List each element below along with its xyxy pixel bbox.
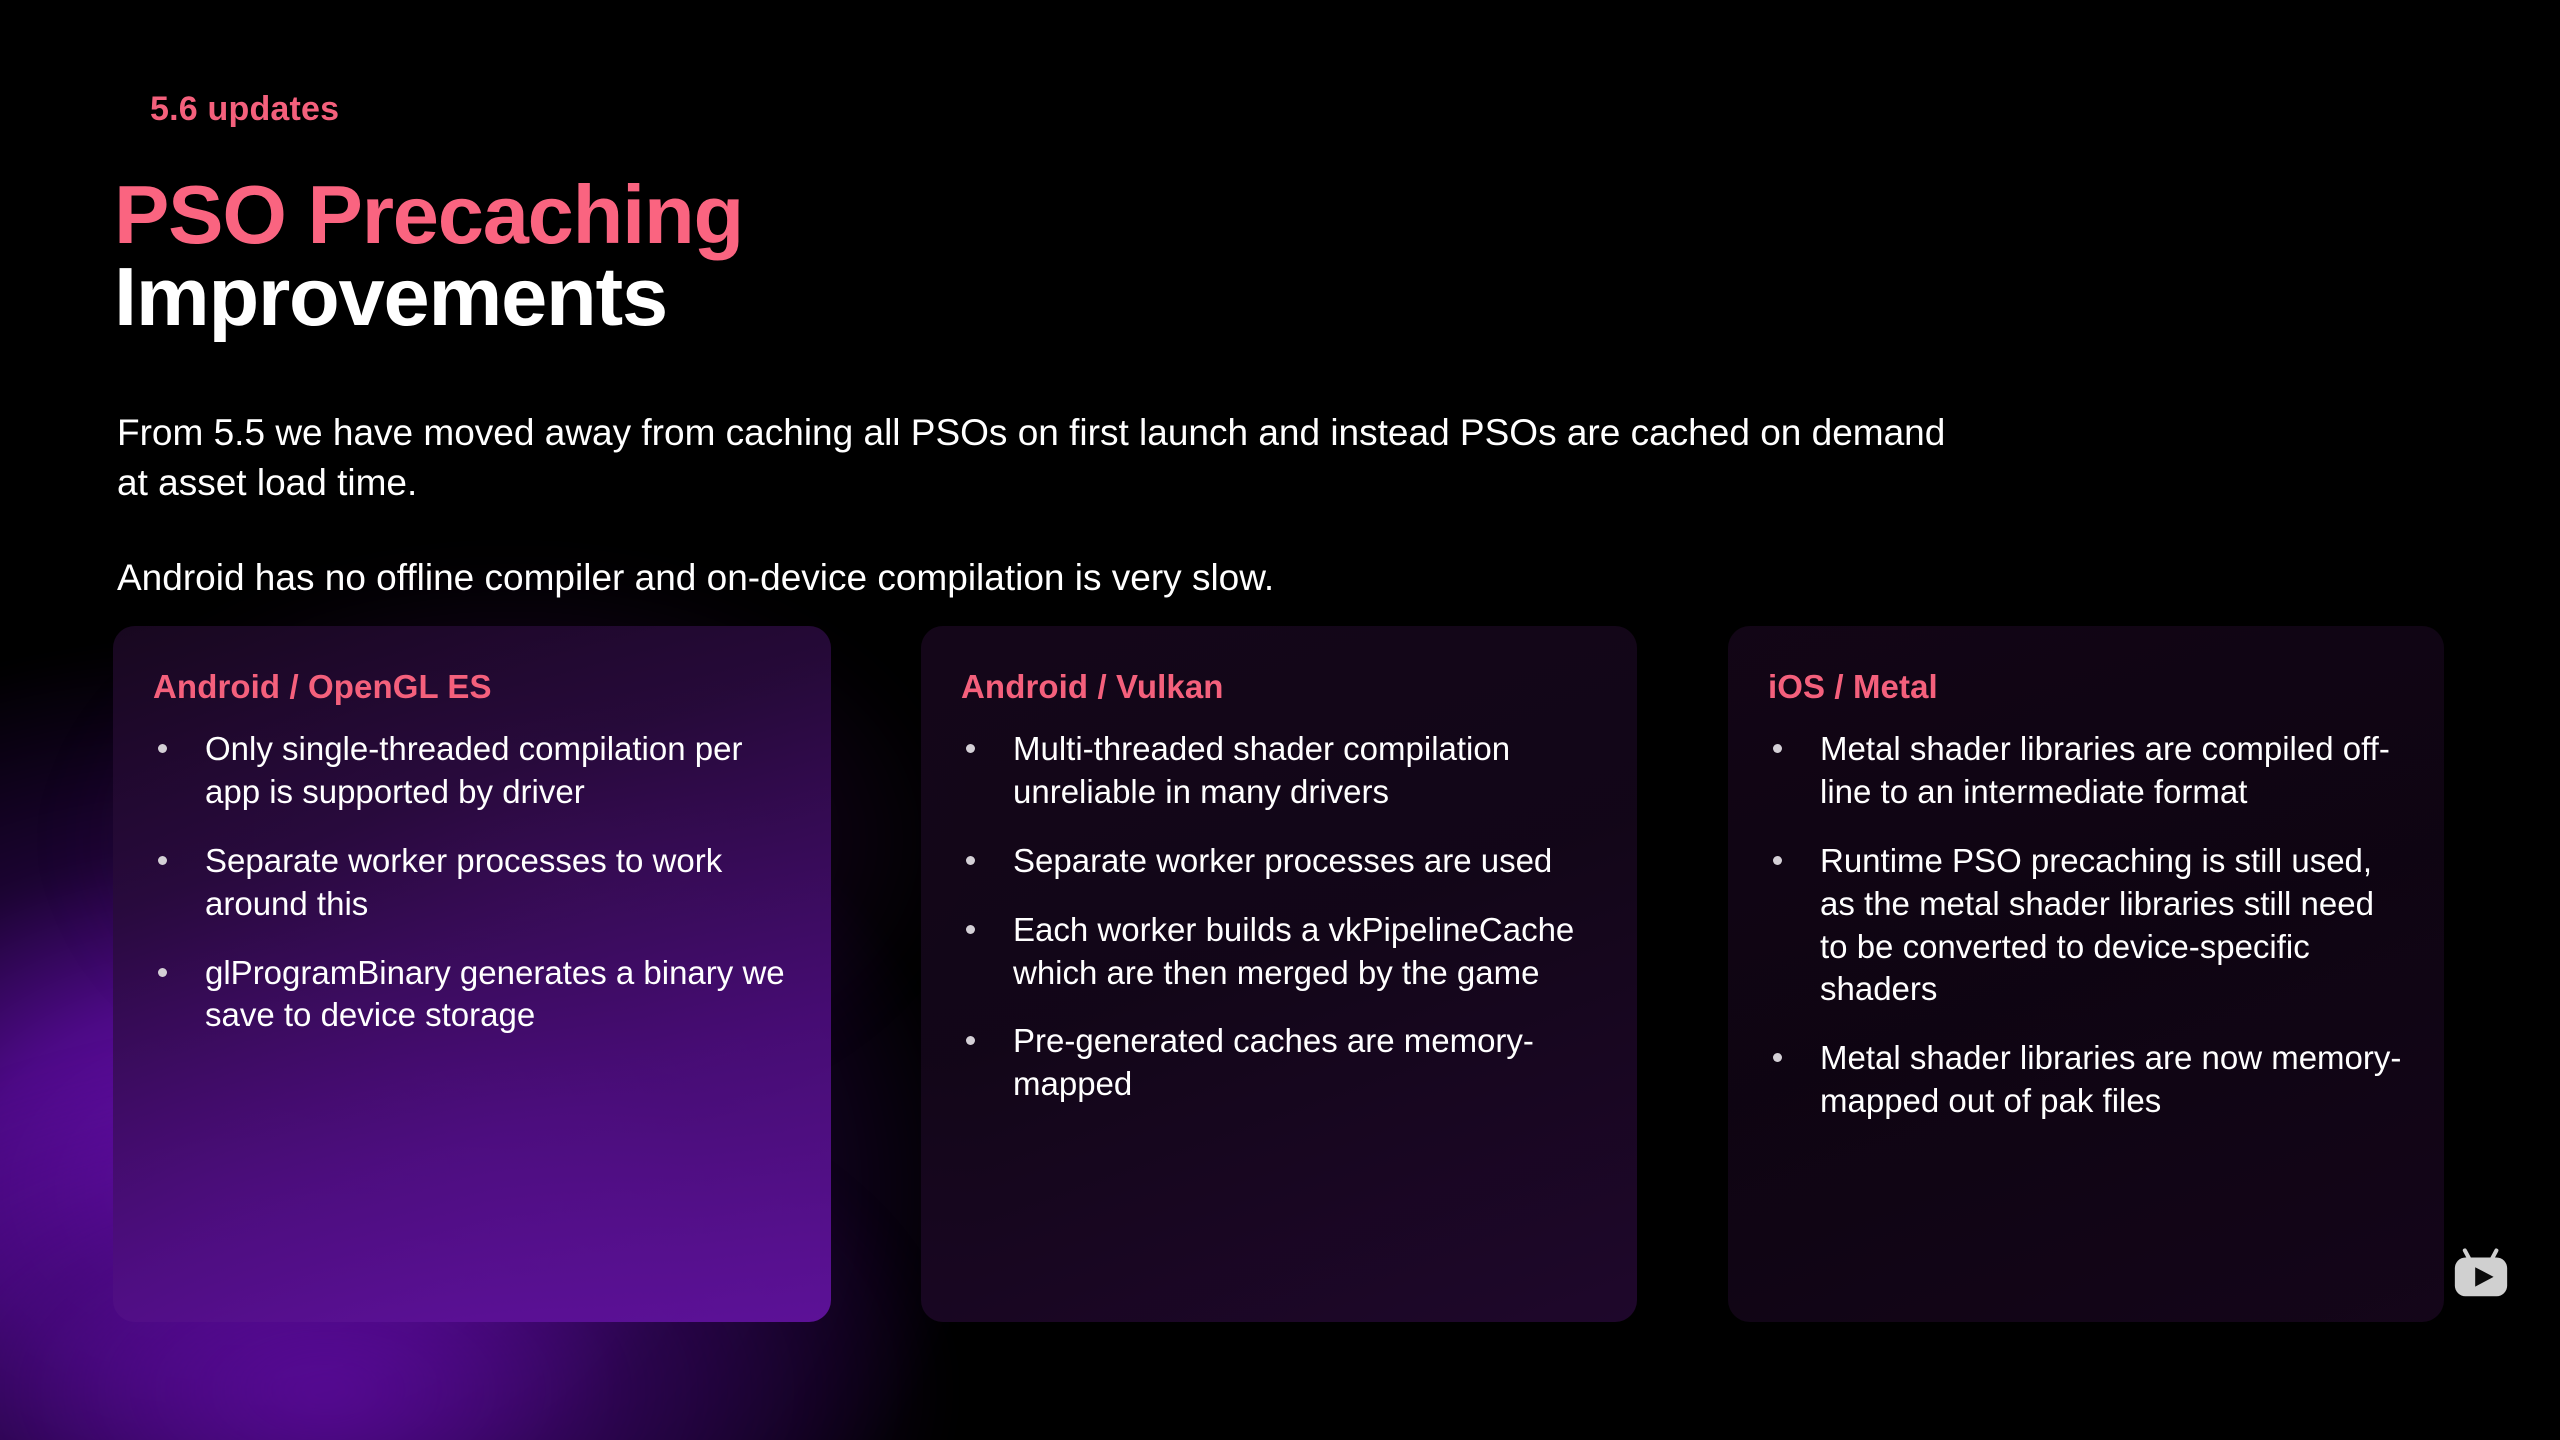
list-item: Metal shader libraries are compiled off-… xyxy=(1768,728,2404,814)
list-item-label: Multi-threaded shader compilation unreli… xyxy=(1013,730,1510,810)
card-ios-metal: iOS / Metal Metal shader libraries are c… xyxy=(1728,626,2444,1322)
card-bullet-list: Only single-threaded compilation per app… xyxy=(153,728,791,1037)
list-item: Separate worker processes are used xyxy=(961,840,1597,883)
list-item: Metal shader libraries are now memory-ma… xyxy=(1768,1037,2404,1123)
card-bullet-list: Metal shader libraries are compiled off-… xyxy=(1768,728,2404,1123)
bullet-dot-icon xyxy=(158,744,167,753)
intro-paragraph-1: From 5.5 we have moved away from caching… xyxy=(117,408,1947,509)
list-item-label: Metal shader libraries are compiled off-… xyxy=(1820,730,2390,810)
list-item: Pre-generated caches are memory-mapped xyxy=(961,1020,1597,1106)
card-android-opengl-es: Android / OpenGL ES Only single-threaded… xyxy=(113,626,831,1322)
page-title-line-accent: PSO Precaching xyxy=(114,174,743,256)
slide-eyebrow: 5.6 updates xyxy=(150,90,339,129)
list-item: Only single-threaded compilation per app… xyxy=(153,728,791,814)
list-item: Separate worker processes to work around… xyxy=(153,840,791,926)
list-item-label: Separate worker processes are used xyxy=(1013,842,1552,879)
bullet-dot-icon xyxy=(966,925,975,934)
list-item-label: Each worker builds a vkPipelineCache whi… xyxy=(1013,911,1574,991)
list-item: Each worker builds a vkPipelineCache whi… xyxy=(961,909,1597,995)
bullet-dot-icon xyxy=(1773,1053,1782,1062)
list-item: glProgramBinary generates a binary we sa… xyxy=(153,952,791,1038)
bullet-dot-icon xyxy=(1773,856,1782,865)
card-bullet-list: Multi-threaded shader compilation unreli… xyxy=(961,728,1597,1106)
card-title: Android / Vulkan xyxy=(961,668,1597,706)
list-item-label: Only single-threaded compilation per app… xyxy=(205,730,742,810)
list-item-label: Pre-generated caches are memory-mapped xyxy=(1013,1022,1534,1102)
bullet-dot-icon xyxy=(966,1036,975,1045)
list-item-label: Separate worker processes to work around… xyxy=(205,842,722,922)
bullet-dot-icon xyxy=(966,744,975,753)
intro-text: From 5.5 we have moved away from caching… xyxy=(117,408,1947,603)
bullet-dot-icon xyxy=(966,856,975,865)
card-title: Android / OpenGL ES xyxy=(153,668,791,706)
card-title: iOS / Metal xyxy=(1768,668,2404,706)
list-item-label: Metal shader libraries are now memory-ma… xyxy=(1820,1039,2401,1119)
tv-play-icon xyxy=(2450,1242,2512,1304)
intro-paragraph-2: Android has no offline compiler and on-d… xyxy=(117,553,1947,603)
bullet-dot-icon xyxy=(158,968,167,977)
list-item-label: Runtime PSO precaching is still used, as… xyxy=(1820,842,2374,1008)
page-title-line-white: Improvements xyxy=(114,256,743,338)
slide-canvas: 5.6 updates PSO Precaching Improvements … xyxy=(0,0,2560,1440)
bullet-dot-icon xyxy=(1773,744,1782,753)
list-item: Multi-threaded shader compilation unreli… xyxy=(961,728,1597,814)
card-android-vulkan: Android / Vulkan Multi-threaded shader c… xyxy=(921,626,1637,1322)
bullet-dot-icon xyxy=(158,856,167,865)
list-item-label: glProgramBinary generates a binary we sa… xyxy=(205,954,785,1034)
list-item: Runtime PSO precaching is still used, as… xyxy=(1768,840,2404,1012)
page-title: PSO Precaching Improvements xyxy=(114,174,743,338)
